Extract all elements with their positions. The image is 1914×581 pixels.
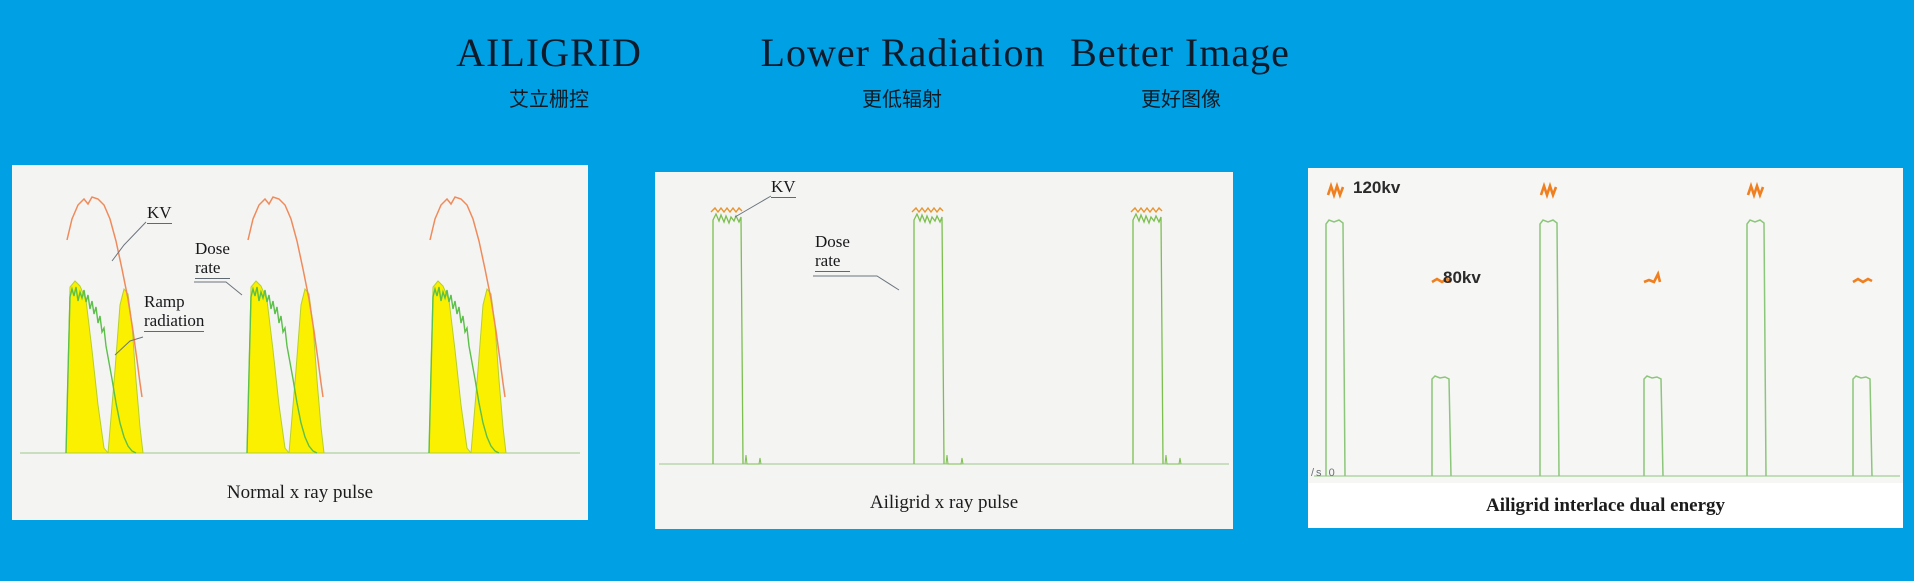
waveform-plot-normal: KV Dose rate Ramp radiation xyxy=(12,165,588,465)
pulse-group-2 xyxy=(247,197,324,453)
annotation-dose-rate: Dose rate xyxy=(815,232,850,272)
axis-tick-stub: /s 0 xyxy=(1311,467,1337,479)
kv-marker-80-3-icon xyxy=(1853,279,1872,282)
dose-rate-pulse-1 xyxy=(713,214,743,464)
pulse-group-3 xyxy=(429,197,506,453)
kv-marker-120-2-icon xyxy=(1541,186,1556,195)
kv-marker-80-2-icon xyxy=(1644,274,1660,282)
pulse-1 xyxy=(711,208,761,464)
ramp-radiation-fill-2 xyxy=(247,281,289,453)
ramp-radiation-fill-1 xyxy=(66,281,108,453)
annotation-ramp-radiation: Ramp radiation xyxy=(144,292,204,332)
kv-pulse-2 xyxy=(912,208,943,212)
dose-rate-pulse-3 xyxy=(1133,214,1163,464)
header-column-better-image: Better Image 更好图像 xyxy=(880,30,1480,114)
pulse-80kv-1 xyxy=(1432,376,1451,476)
leader-line-kv xyxy=(735,196,771,217)
residual-spikes-1 xyxy=(745,455,761,464)
pulse-120kv-1 xyxy=(1326,220,1345,476)
ramp-radiation-fill-3 xyxy=(429,281,471,453)
pulse-3 xyxy=(1131,208,1181,464)
leader-line-kv xyxy=(112,222,146,261)
waveform-plot-dual-energy: 120kv 80kv /s 0 xyxy=(1308,168,1903,483)
pulse-80kv-2 xyxy=(1644,376,1663,476)
annotation-dose-rate: Dose rate xyxy=(195,239,230,279)
pulse-120kv-2 xyxy=(1540,220,1559,476)
residual-spikes-2 xyxy=(946,455,963,464)
panel-caption-dual-energy: Ailigrid interlace dual energy xyxy=(1308,483,1903,528)
kv-pulse-3 xyxy=(1131,208,1162,212)
residual-spikes-3 xyxy=(1165,455,1181,464)
waveform-svg-ailigrid xyxy=(655,172,1233,477)
pulse-2 xyxy=(912,208,963,464)
header-title-en-2: Better Image xyxy=(880,30,1480,76)
header-title-cn-2: 更好图像 xyxy=(882,84,1480,114)
pulse-80kv-3 xyxy=(1853,376,1872,476)
chart-panel-ailigrid-x-ray-pulse: KV Dose rate Ailigrid x ray pulse xyxy=(655,172,1233,529)
legend-label-120kv: 120kv xyxy=(1353,178,1400,198)
pulse-group-1 xyxy=(66,197,143,453)
pulse-120kv-3 xyxy=(1747,220,1766,476)
panel-caption-ailigrid: Ailigrid x ray pulse xyxy=(655,477,1233,529)
chart-panel-normal-x-ray-pulse: KV Dose rate Ramp radiation Normal x ray… xyxy=(12,165,588,520)
waveform-svg-dual-energy xyxy=(1308,168,1903,483)
legend-label-80kv: 80kv xyxy=(1443,268,1481,288)
leader-line-dose-rate xyxy=(813,276,899,290)
kv-marker-120-3-icon xyxy=(1748,186,1763,195)
chart-panel-interlace-dual-energy: 120kv 80kv /s 0 Ailigrid interlace dual … xyxy=(1308,168,1903,528)
dose-rate-pulse-2 xyxy=(914,214,944,464)
annotation-kv: KV xyxy=(771,177,796,198)
annotation-kv: KV xyxy=(147,203,172,224)
kv-marker-120-1-icon xyxy=(1328,186,1343,195)
panel-caption-normal: Normal x ray pulse xyxy=(12,465,588,520)
header-banner: AILIGRID 艾立栅控 Lower Radiation 更低辐射 Bette… xyxy=(0,22,1914,122)
waveform-plot-ailigrid: KV Dose rate xyxy=(655,172,1233,477)
kv-pulse-1 xyxy=(711,208,742,212)
waveform-svg-normal xyxy=(12,165,588,465)
